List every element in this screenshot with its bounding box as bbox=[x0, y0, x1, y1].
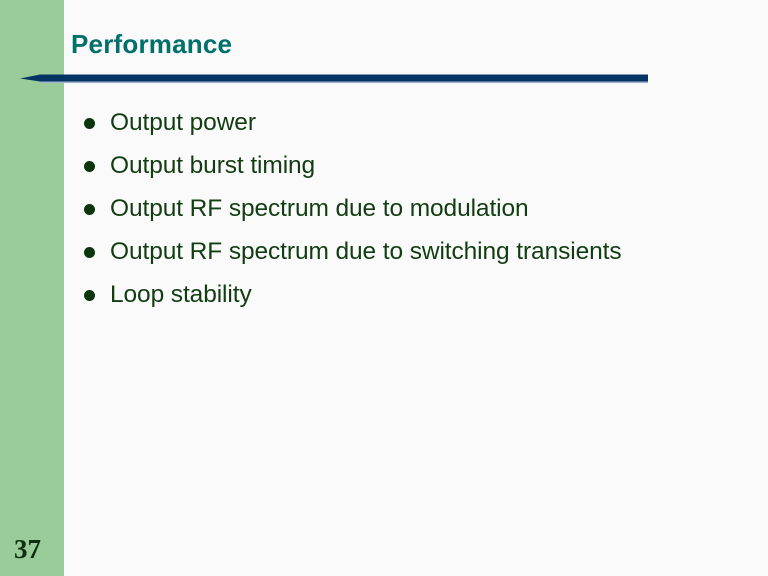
slide-canvas: 37 Performance Output power Output burst… bbox=[0, 0, 768, 576]
list-item: Output RF spectrum due to modulation bbox=[84, 190, 684, 228]
list-item: Output burst timing bbox=[84, 147, 684, 185]
list-item: Output power bbox=[84, 104, 684, 142]
list-item-label: Output burst timing bbox=[110, 147, 684, 185]
list-item-label: Loop stability bbox=[110, 276, 684, 314]
list-item: Loop stability bbox=[84, 276, 684, 314]
bullet-dot-icon bbox=[84, 118, 95, 129]
page-number: 37 bbox=[14, 536, 41, 563]
page-title: Performance bbox=[71, 28, 232, 60]
bullet-dot-icon bbox=[84, 161, 95, 172]
left-accent-band: 37 bbox=[0, 0, 64, 576]
bullet-dot-icon bbox=[84, 247, 95, 258]
list-item-label: Output power bbox=[110, 104, 684, 142]
list-item: Output RF spectrum due to switching tran… bbox=[84, 233, 684, 271]
bullet-dot-icon bbox=[84, 204, 95, 215]
title-underline-arrow bbox=[20, 66, 650, 86]
bullet-list: Output power Output burst timing Output … bbox=[84, 104, 684, 319]
list-item-label: Output RF spectrum due to modulation bbox=[110, 190, 684, 228]
list-item-label: Output RF spectrum due to switching tran… bbox=[110, 233, 684, 271]
arrow-line-icon bbox=[20, 66, 660, 86]
bullet-dot-icon bbox=[84, 290, 95, 301]
